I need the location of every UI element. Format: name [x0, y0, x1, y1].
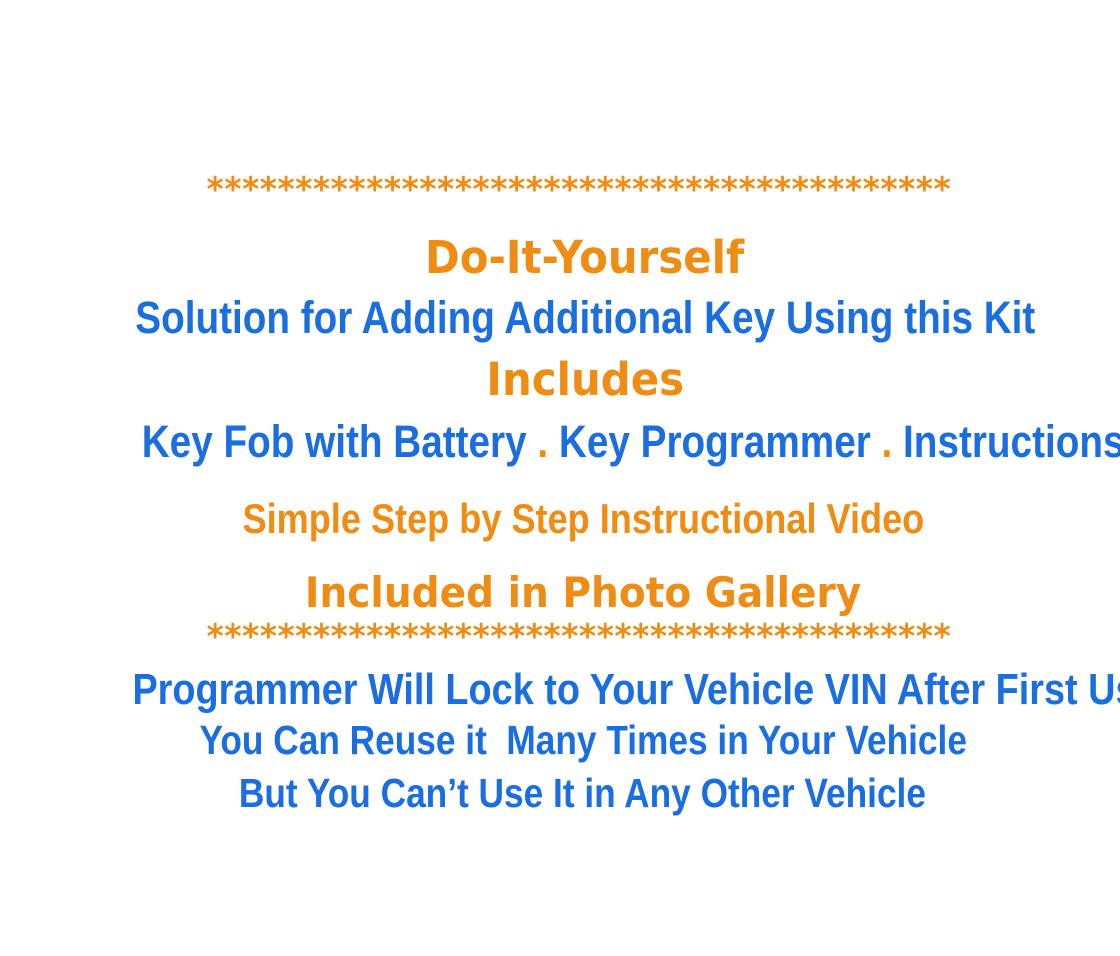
note-no-other-vehicle: But You Can’t Use It in Any Other Vehicl… — [0, 732, 1120, 855]
promo-card: ****************************************… — [0, 0, 1120, 956]
note-no-other-vehicle-text: But You Can’t Use It in Any Other Vehicl… — [239, 773, 926, 814]
